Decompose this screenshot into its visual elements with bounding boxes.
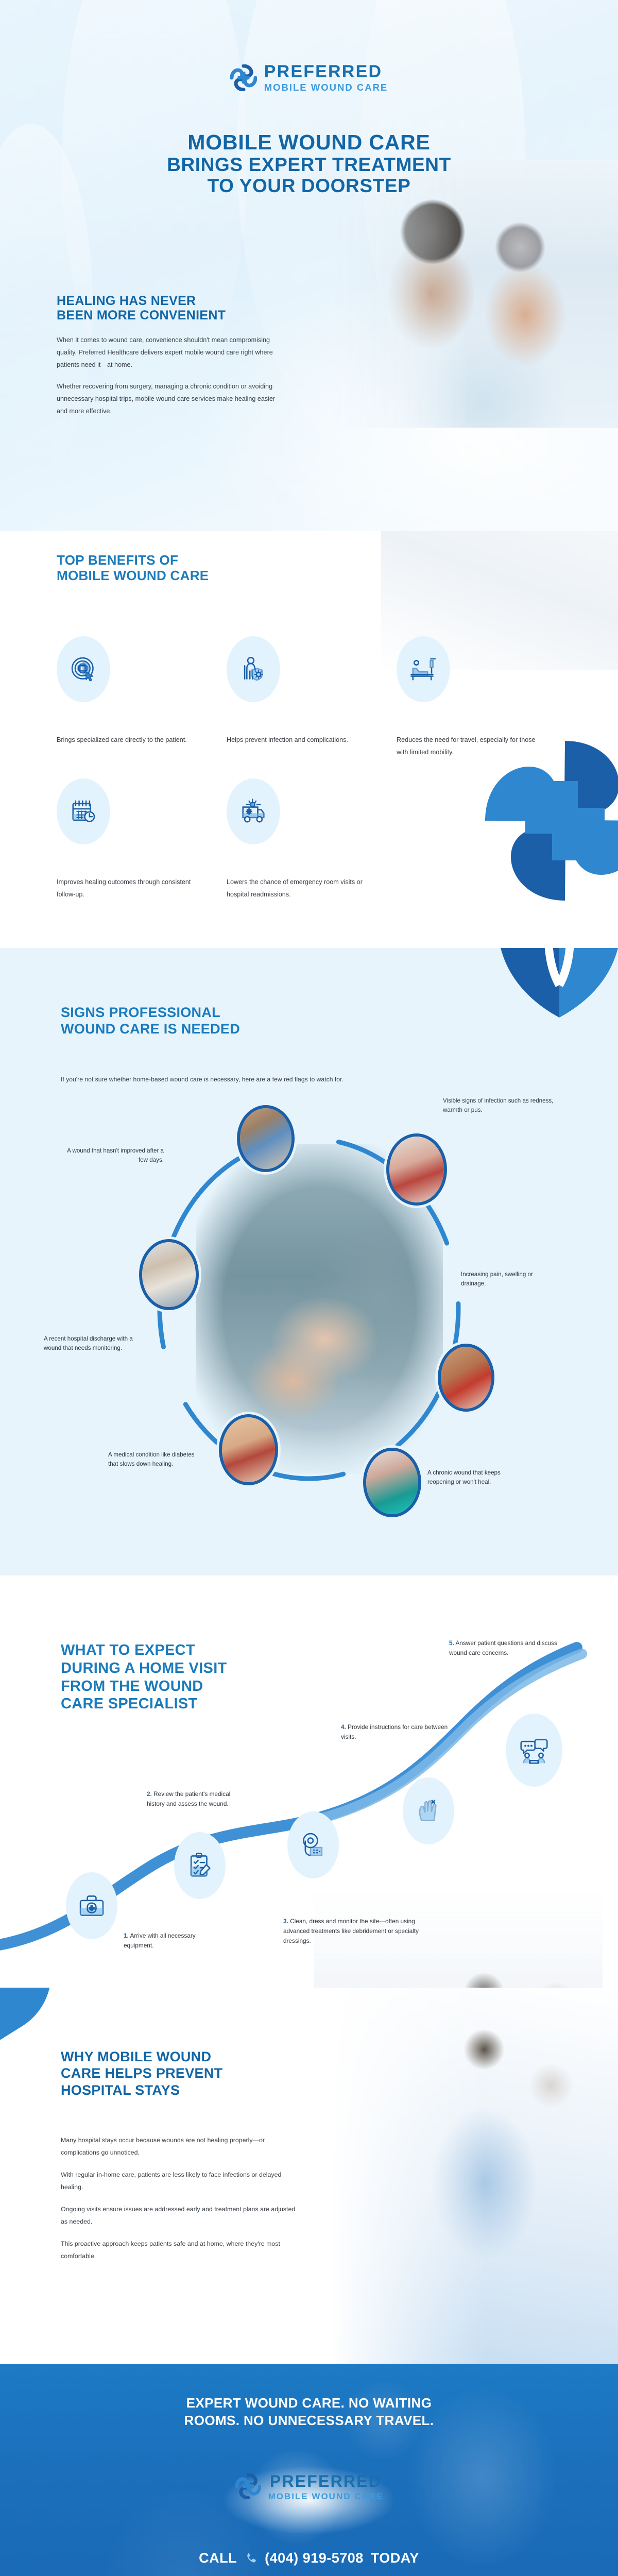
intro-heading-line-2: BEEN MORE CONVENIENT bbox=[57, 308, 226, 323]
step-number: 1. bbox=[124, 1932, 129, 1939]
why-paragraph: Many hospital stays occur because wounds… bbox=[61, 2134, 303, 2159]
phone-icon bbox=[244, 2552, 257, 2565]
decorative-cross-globe-icon bbox=[480, 736, 618, 906]
signs-cluster: A wound that hasn't improved after a few… bbox=[67, 1128, 551, 1540]
intro-paragraph-1: When it comes to wound care, convenience… bbox=[57, 334, 283, 371]
signs-lead-text: If you're not sure whether home-based wo… bbox=[61, 1073, 421, 1086]
calendar-clock-icon bbox=[57, 778, 110, 844]
step-number: 5. bbox=[449, 1639, 454, 1647]
step-text: Arrive with all necessary equipment. bbox=[124, 1932, 196, 1949]
benefits-heading-line-1: TOP BENEFITS OF bbox=[57, 552, 178, 568]
logo-wordmark: PREFERRED bbox=[264, 63, 388, 80]
why-heading: WHY MOBILE WOUND CARE HELPS PREVENT HOSP… bbox=[61, 2048, 329, 2098]
sign-photo-bubble bbox=[139, 1239, 199, 1310]
sign-photo-bubble bbox=[438, 1344, 494, 1412]
step-label-2: 2. Review the patient's medical history … bbox=[147, 1789, 250, 1809]
cta-headline-line-2: ROOMS. NO UNNECESSARY TRAVEL. bbox=[184, 2413, 434, 2428]
preferred-cross-globe-icon bbox=[230, 64, 257, 91]
call-prefix-label: CALL bbox=[199, 2550, 237, 2566]
benefit-item: Brings specialized care directly to the … bbox=[57, 636, 227, 759]
sign-label: Increasing pain, swelling or drainage. bbox=[461, 1270, 559, 1289]
sign-label: A recent hospital discharge with a wound… bbox=[44, 1334, 139, 1353]
benefits-section: TOP BENEFITS OF MOBILE WOUND CARE bbox=[0, 531, 618, 948]
step-label-5: 5. Answer patient questions and discuss … bbox=[449, 1638, 565, 1658]
step-node-4 bbox=[403, 1777, 454, 1844]
medical-bag-icon bbox=[78, 1892, 106, 1920]
benefit-text: Lowers the chance of emergency room visi… bbox=[227, 876, 368, 901]
preferred-cross-globe-icon bbox=[235, 2473, 262, 2500]
why-body: Many hospital stays occur because wounds… bbox=[61, 2134, 303, 2273]
benefits-heading-line-2: MOBILE WOUND CARE bbox=[57, 568, 209, 583]
cta-headline-line-1: EXPERT WOUND CARE. NO WAITING bbox=[186, 2395, 432, 2411]
logo-tagline: MOBILE WOUND CARE bbox=[264, 83, 388, 93]
phone-number[interactable]: (404) 919-5708 bbox=[265, 2550, 364, 2566]
bandage-roll-icon bbox=[299, 1831, 327, 1859]
intro-heading-line-1: HEALING HAS NEVER bbox=[57, 294, 196, 308]
why-paragraph: This proactive approach keeps patients s… bbox=[61, 2238, 303, 2262]
step-label-4: 4. Provide instructions for care between… bbox=[341, 1722, 452, 1742]
why-heading-line-2: CARE HELPS PREVENT bbox=[61, 2065, 222, 2081]
hero-photo-nurse-patient bbox=[330, 160, 618, 428]
why-heading-line-3: HOSPITAL STAYS bbox=[61, 2082, 180, 2098]
target-cross-cursor-icon bbox=[57, 636, 110, 702]
cta-footer-section: EXPERT WOUND CARE. NO WAITING ROOMS. NO … bbox=[0, 2364, 618, 2576]
infographic-page: PREFERRED MOBILE WOUND CARE MOBILE WOUND… bbox=[0, 0, 618, 2576]
sign-label: A chronic wound that keeps reopening or … bbox=[427, 1468, 525, 1487]
why-heading-line-1: WHY MOBILE WOUND bbox=[61, 2049, 211, 2064]
why-section: WHY MOBILE WOUND CARE HELPS PREVENT HOSP… bbox=[0, 1988, 618, 2364]
benefit-text: Helps prevent infection and complication… bbox=[227, 734, 368, 747]
consultation-chat-icon bbox=[520, 1736, 548, 1764]
step-node-1 bbox=[66, 1872, 117, 1939]
healing-hands-icon bbox=[415, 1797, 442, 1825]
sign-label: A wound that hasn't improved after a few… bbox=[61, 1146, 164, 1165]
step-number: 2. bbox=[147, 1790, 152, 1798]
intro-block: HEALING HAS NEVER BEEN MORE CONVENIENT W… bbox=[57, 294, 319, 426]
step-node-2 bbox=[174, 1832, 226, 1899]
call-suffix-label: TODAY bbox=[371, 2550, 419, 2566]
sign-photo-bubble bbox=[219, 1414, 278, 1485]
sign-photo-bubble bbox=[237, 1105, 295, 1172]
benefit-text: Brings specialized care directly to the … bbox=[57, 734, 198, 747]
hero-title-line-1: MOBILE WOUND CARE bbox=[0, 131, 618, 153]
step-label-1: 1. Arrive with all necessary equipment. bbox=[124, 1931, 201, 1951]
logo-tagline: MOBILE WOUND CARE bbox=[268, 2492, 384, 2501]
benefits-heading: TOP BENEFITS OF MOBILE WOUND CARE bbox=[57, 552, 209, 583]
logo-wordmark: PREFERRED bbox=[268, 2473, 384, 2489]
sign-label: Visible signs of infection such as redne… bbox=[443, 1096, 561, 1115]
signs-section: SIGNS PROFESSIONAL WOUND CARE IS NEEDED … bbox=[0, 948, 618, 1575]
sign-label: A medical condition like diabetes that s… bbox=[108, 1450, 201, 1469]
hospital-bed-iv-icon bbox=[397, 636, 450, 702]
why-paragraph: With regular in-home care, patients are … bbox=[61, 2169, 303, 2193]
footer-brand-logo: PREFERRED MOBILE WOUND CARE bbox=[0, 2473, 618, 2501]
step-label-3: 3. Clean, dress and monitor the site—oft… bbox=[283, 1917, 433, 1946]
elderly-shield-virus-icon bbox=[227, 636, 280, 702]
intro-paragraph-2: Whether recovering from surgery, managin… bbox=[57, 380, 283, 418]
benefit-item: Lowers the chance of emergency room visi… bbox=[227, 778, 397, 901]
brand-logo: PREFERRED MOBILE WOUND CARE bbox=[0, 63, 618, 93]
ambulance-icon bbox=[227, 778, 280, 844]
hero-section: PREFERRED MOBILE WOUND CARE MOBILE WOUND… bbox=[0, 0, 618, 531]
hero-title-line-2: BRINGS EXPERT TREATMENT bbox=[0, 155, 618, 175]
step-node-5 bbox=[506, 1714, 562, 1787]
intro-heading: HEALING HAS NEVER BEEN MORE CONVENIENT bbox=[57, 294, 319, 323]
signs-heading-line-1: SIGNS PROFESSIONAL bbox=[61, 1005, 220, 1020]
sign-photo-bubble bbox=[363, 1448, 421, 1517]
step-text: Provide instructions for care between vi… bbox=[341, 1723, 448, 1740]
signs-heading: SIGNS PROFESSIONAL WOUND CARE IS NEEDED bbox=[61, 1005, 240, 1038]
call-to-action-phone[interactable]: CALL (404) 919-5708 TODAY bbox=[0, 2550, 618, 2566]
benefit-text: Improves healing outcomes through consis… bbox=[57, 876, 198, 901]
why-photo-nurse-patient bbox=[330, 1988, 618, 2364]
step-text: Review the patient's medical history and… bbox=[147, 1790, 230, 1807]
benefit-item: Helps prevent infection and complication… bbox=[227, 636, 397, 759]
why-paragraph: Ongoing visits ensure issues are address… bbox=[61, 2204, 303, 2228]
what-to-expect-section: WHAT TO EXPECT DURING A HOME VISIT FROM … bbox=[0, 1575, 618, 1988]
decorative-shield-icon bbox=[482, 948, 618, 1046]
step-number: 3. bbox=[283, 1918, 288, 1925]
step-text: Clean, dress and monitor the site—often … bbox=[283, 1918, 419, 1944]
step-text: Answer patient questions and discuss wou… bbox=[449, 1639, 557, 1656]
sign-photo-bubble bbox=[386, 1133, 447, 1206]
cta-headline: EXPERT WOUND CARE. NO WAITING ROOMS. NO … bbox=[0, 2395, 618, 2430]
step-node-3 bbox=[287, 1811, 339, 1878]
step-number: 4. bbox=[341, 1723, 346, 1731]
hero-title-line-3: TO YOUR DOORSTEP bbox=[0, 176, 618, 196]
benefit-item: Improves healing outcomes through consis… bbox=[57, 778, 227, 901]
hero-title: MOBILE WOUND CARE BRINGS EXPERT TREATMEN… bbox=[0, 131, 618, 196]
clipboard-checklist-icon bbox=[186, 1852, 214, 1879]
signs-heading-line-2: WOUND CARE IS NEEDED bbox=[61, 1021, 240, 1037]
